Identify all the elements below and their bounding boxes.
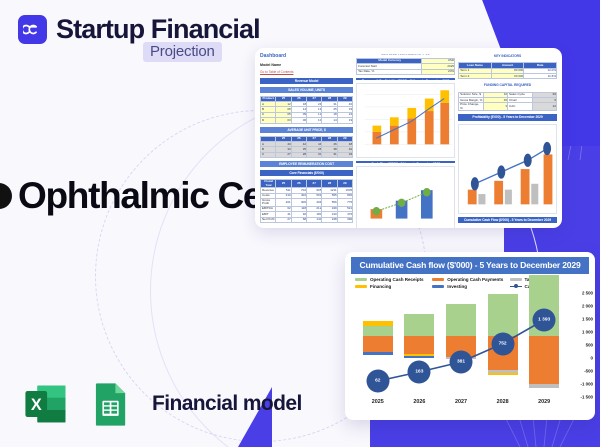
- dashboard-toc-link[interactable]: Go to Table of Contents: [260, 70, 353, 74]
- data-label-2026: 163: [408, 361, 431, 384]
- dashboard-mini-chart-revenue: [356, 83, 455, 158]
- data-label-2029: 1 393: [533, 309, 556, 332]
- brand-header: Startup Financial: [18, 14, 260, 45]
- legend-label-investing: Investing: [447, 284, 467, 289]
- y-tick: 2 500: [582, 291, 593, 296]
- dashboard-panel-funding: FUNDING CAPITAL REQUIRED: [458, 82, 557, 88]
- y-tick: 500: [586, 343, 593, 348]
- legend-label-receipts: Operating Cash Receipts: [370, 277, 423, 282]
- brand-name: Startup Financial: [56, 14, 260, 45]
- legend-label-financing: Financing: [370, 284, 391, 289]
- microsoft-excel-icon: X: [20, 378, 72, 430]
- dashboard-table-assumptions: Model CurrencyUSD Forecast Start2025 Tax…: [356, 58, 455, 75]
- x-tick-2028: 2028: [488, 399, 518, 405]
- dashboard-panel-revenue-profit-chart: Revenue & Profitability ($'000) - 5 Year…: [356, 78, 455, 80]
- legend-swatch-financing: [355, 285, 367, 288]
- legend-swatch-receipts: [355, 278, 367, 281]
- dashboard-panel-sales-volume: SALES VOLUME, UNITS: [260, 87, 353, 93]
- y-tick: 2 000: [582, 304, 593, 309]
- dashboard-mini-chart-profitability: [458, 124, 557, 214]
- x-tick-2025: 2025: [363, 399, 393, 405]
- dashboard-panel-cumulative-cashflow: Cumulative Cash Flow ($'000) - 5 Years t…: [458, 217, 557, 223]
- dashboard-panel-unit-price: AVERAGE UNIT PRICE, $: [260, 127, 353, 133]
- legend-swatch-tax: [510, 278, 522, 281]
- dashboard-table-volume: Product2526272829 A1218243140 B081419253…: [260, 96, 353, 124]
- x-tick-2026: 2026: [404, 399, 434, 405]
- dashboard-table-funding: Solution Size, $10Sales Cycle60 Gross Ma…: [458, 92, 557, 112]
- svg-text:X: X: [31, 396, 42, 414]
- legend-swatch-payments: [432, 278, 444, 281]
- legend-item-financing: Financing: [355, 284, 432, 289]
- dashboard-panel-revenue-model: Revenue Model: [260, 78, 353, 84]
- y-tick: -1 500: [581, 395, 593, 400]
- legend-swatch-investing: [432, 285, 444, 288]
- file-format-row: X Financial model: [20, 378, 302, 430]
- swirl-e-logo-icon: [18, 15, 47, 44]
- y-tick: 1 000: [582, 330, 593, 335]
- background-dot: [0, 183, 12, 209]
- data-label-2028: 752: [491, 332, 514, 355]
- dashboard-title: Dashboard: [260, 53, 353, 60]
- poster-canvas: Startup Financial Projection Ophthalmic …: [0, 0, 600, 447]
- chart-title: Cumulative Cash flow ($'000) - 5 Years t…: [351, 257, 589, 274]
- dashboard-table-core-financials: Fiscal Year2526272829 Revenue51170290512…: [260, 179, 353, 223]
- dashboard-table-indicators: Loan NameAmountRate Term 180 00012.0% Te…: [458, 62, 557, 79]
- file-format-label: Financial model: [152, 392, 302, 416]
- dashboard-table-price: 2526272829 A4042444648 B3335363840 C2728…: [260, 136, 353, 159]
- y-tick: 0: [591, 356, 593, 361]
- dashboard-preview-card: Dashboard Model Name Go to Table of Cont…: [255, 48, 562, 228]
- dashboard-mini-chart-cashflow: [356, 166, 455, 228]
- brand-subtitle: Projection: [143, 42, 222, 62]
- chart-plot-area: 62 163 381 752 1 393 2 500 2 000 1 500 1…: [357, 293, 565, 397]
- chart-x-axis: 2025 2026 2027 2028 2029: [357, 399, 565, 405]
- cumulative-cashflow-card: Cumulative Cash flow ($'000) - 5 Years t…: [345, 252, 595, 420]
- legend-label-payments: Operating Cash Payments: [447, 277, 503, 282]
- dashboard-panel-employee-cost: EMPLOYEE REMUNERATION COST: [260, 161, 353, 167]
- dashboard-panel-cashflow-chart: Cash Flow ($'000) - 5 Years to December …: [356, 161, 455, 163]
- dashboard-model-name: Model Name: [260, 63, 353, 68]
- chart-y-axis: 2 500 2 000 1 500 1 000 500 0 -500 -1 00…: [565, 293, 595, 397]
- legend-item-investing: Investing: [432, 284, 509, 289]
- legend-item-receipts: Operating Cash Receipts: [355, 277, 432, 282]
- y-tick: -1 000: [581, 382, 593, 387]
- legend-item-payments: Operating Cash Payments: [432, 277, 509, 282]
- data-label-2027: 381: [450, 350, 473, 373]
- google-sheets-icon: [84, 378, 136, 430]
- dashboard-panel-profitability-chart: Profitability ($'000) - 5 Years to Decem…: [458, 114, 557, 120]
- data-label-2025: 62: [366, 370, 389, 393]
- dashboard-panel-core-financials: Core Financials ($'000): [260, 170, 353, 176]
- x-tick-2029: 2029: [529, 399, 559, 405]
- legend-swatch-cash-balance: [510, 286, 522, 288]
- y-tick: -500: [584, 369, 593, 374]
- dashboard-panel-assumptions: PROJECT ASSUMPTIONS & CO: [356, 53, 455, 55]
- y-tick: 1 500: [582, 317, 593, 322]
- dashboard-panel-key-indicators: KEY INDICATORS: [458, 53, 557, 59]
- x-tick-2027: 2027: [446, 399, 476, 405]
